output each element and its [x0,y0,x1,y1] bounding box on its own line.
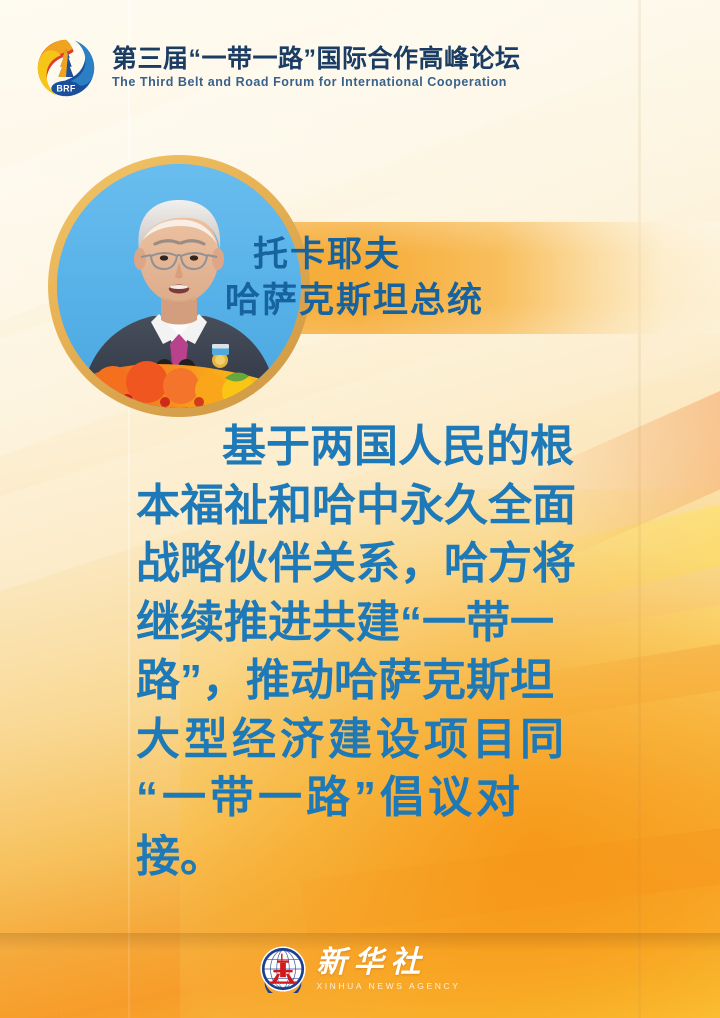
xinhua-footer: XINHUA 新华社 XINHUA NEWS AGENCY [0,945,720,993]
quote-line: 路”，推动哈萨克斯坦 [136,652,618,711]
xinhua-wordmark: 新华社 XINHUA NEWS AGENCY [316,948,460,991]
speaker-title: 哈萨克斯坦总统 [225,278,665,324]
quote-line: 大型经济建设项目同 [136,711,618,770]
quote-line: 本福祉和哈中永久全面 [136,477,618,536]
quote-line: “一带一路”倡议对 [136,769,618,828]
quote-line: 战略伙伴关系，哈方将 [136,535,618,594]
xinhua-emblem-icon: XINHUA [259,945,307,993]
forum-header-text: 第三届“一带一路”国际合作高峰论坛 The Third Belt and Roa… [112,46,521,90]
quote-line: 基于两国人民的根 [136,418,618,477]
quote-line: 接。 [136,828,618,887]
forum-title-en: The Third Belt and Road Forum for Intern… [112,76,521,90]
quote-line: 继续推进共建“一带一 [136,594,618,653]
quote-block: 基于两国人民的根 本福祉和哈中永久全面 战略伙伴关系，哈方将 继续推进共建“一带… [136,418,618,886]
svg-text:XINHUA: XINHUA [275,982,292,987]
forum-header: BRF 第三届“一带一路”国际合作高峰论坛 The Third Belt and… [34,36,521,100]
forum-title-cn: 第三届“一带一路”国际合作高峰论坛 [112,46,521,74]
xinhua-name-cn: 新华社 [316,948,427,978]
poster-root: BRF 第三届“一带一路”国际合作高峰论坛 The Third Belt and… [0,0,720,1018]
speaker-name: 托卡耶夫 [253,232,665,278]
brf-logo-icon: BRF [34,36,98,100]
svg-text:BRF: BRF [56,84,76,94]
xinhua-name-en: XINHUA NEWS AGENCY [316,982,460,991]
speaker-name-block: 托卡耶夫 哈萨克斯坦总统 [225,232,665,323]
